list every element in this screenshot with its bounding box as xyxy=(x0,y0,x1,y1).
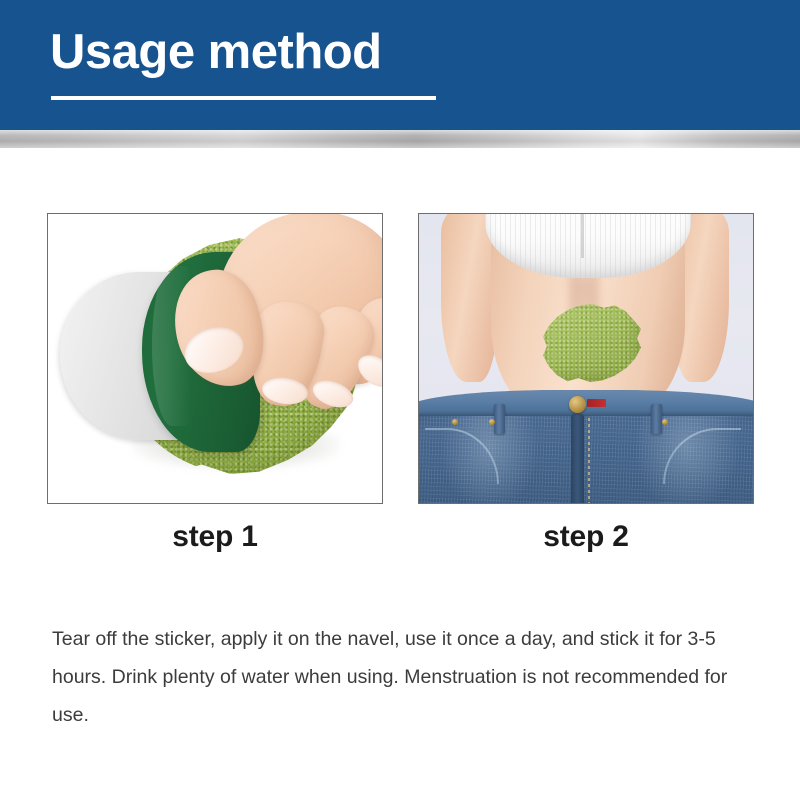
step-1-photo xyxy=(47,213,383,504)
pocket-rivet-1 xyxy=(452,419,458,425)
belt-loop-left xyxy=(494,404,505,434)
pocket-rivet-2 xyxy=(489,419,495,425)
metallic-divider xyxy=(0,130,800,148)
bra-seam xyxy=(581,214,584,258)
page-header: Usage method xyxy=(0,0,800,130)
step-1-label: step 1 xyxy=(47,520,383,554)
jeans-button xyxy=(569,396,586,413)
instructions-paragraph: Tear off the sticker, apply it on the na… xyxy=(52,620,752,734)
page-title: Usage method xyxy=(50,27,382,78)
belt-loop-right xyxy=(651,404,662,434)
jeans-waistband xyxy=(419,390,753,416)
hand-icon xyxy=(166,213,383,454)
fly-stitching xyxy=(588,418,590,503)
step-2-label: step 2 xyxy=(418,520,754,554)
pocket-rivet-3 xyxy=(662,419,668,425)
step-2-scene xyxy=(419,214,753,503)
step-2-photo xyxy=(418,213,754,504)
red-brand-tab xyxy=(587,399,606,407)
step-1-scene xyxy=(48,214,382,503)
step-labels: step 1 step 2 xyxy=(0,520,800,564)
steps-gallery xyxy=(0,213,800,513)
page-title-underline xyxy=(51,96,436,100)
jeans-fly xyxy=(571,414,584,503)
divider-sheen xyxy=(0,130,800,148)
